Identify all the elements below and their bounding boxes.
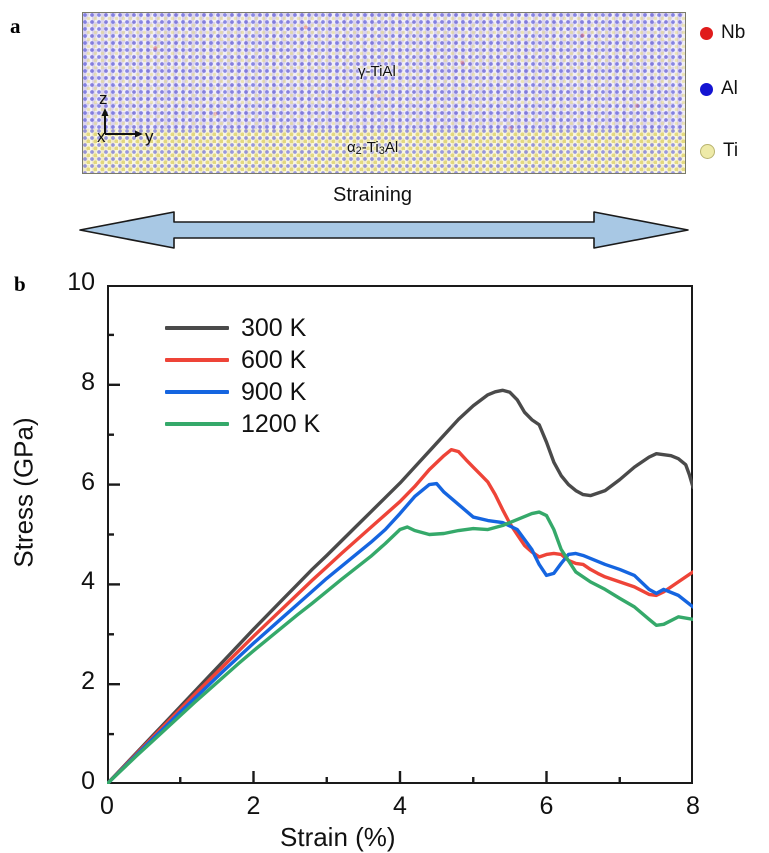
series-line-300-k	[107, 390, 693, 784]
legend-label: 600 K	[241, 346, 306, 375]
legend-line-swatch-icon	[165, 422, 229, 427]
x-tick-label-2: 2	[232, 792, 276, 821]
series-line-1200-k	[107, 512, 693, 784]
y-tick-label-2: 2	[51, 667, 95, 696]
legend-item-nb: Nb	[700, 22, 745, 44]
gamma-tial-label: γ-TiAl	[358, 63, 396, 80]
x-tick-label-4: 4	[378, 792, 422, 821]
alpha2-ti3al-label: α2-Ti3Al	[347, 139, 398, 157]
series-line-600-k	[107, 450, 693, 784]
y-tick-label-6: 6	[51, 468, 95, 497]
coordinate-axes-triad: z x y	[95, 88, 165, 156]
legend-item-300-k[interactable]: 300 K	[165, 312, 320, 344]
temperature-series-legend: 300 K600 K900 K1200 K	[165, 312, 320, 440]
y-tick-label-4: 4	[51, 567, 95, 596]
legend-item-1200-k[interactable]: 1200 K	[165, 408, 320, 440]
svg-text:z: z	[99, 89, 108, 108]
legend-line-swatch-icon	[165, 358, 229, 363]
al-color-swatch-icon	[700, 83, 713, 96]
legend-item-600-k[interactable]: 600 K	[165, 344, 320, 376]
x-tick-label-8: 8	[671, 792, 715, 821]
x-tick-label-0: 0	[85, 792, 129, 821]
legend-label: 1200 K	[241, 410, 320, 439]
legend-label-ti: Ti	[723, 140, 738, 162]
legend-label-al: Al	[721, 78, 738, 100]
alpha2-ti3al-label-pre: α	[347, 139, 356, 156]
legend-line-swatch-icon	[165, 326, 229, 331]
legend-item-900-k[interactable]: 900 K	[165, 376, 320, 408]
legend-label: 300 K	[241, 314, 306, 343]
svg-text:x: x	[97, 127, 106, 146]
alpha2-ti3al-label-post: Al	[385, 139, 398, 156]
legend-label-nb: Nb	[721, 22, 745, 44]
y-axis-title: Stress (GPa)	[9, 373, 40, 613]
legend-label: 900 K	[241, 378, 306, 407]
svg-text:y: y	[145, 127, 154, 146]
y-tick-label-8: 8	[51, 368, 95, 397]
legend-item-al: Al	[700, 78, 738, 100]
nb-color-swatch-icon	[700, 27, 713, 40]
stress-strain-chart: 0246810 02468 Stress (GPa) Strain (%) 30…	[0, 262, 769, 851]
ti-color-swatch-icon	[700, 144, 715, 159]
straining-double-arrow-icon	[78, 208, 690, 252]
legend-item-ti: Ti	[700, 140, 738, 162]
legend-line-swatch-icon	[165, 390, 229, 395]
panel-a-letter: a	[10, 14, 21, 39]
alpha2-ti3al-label-mid: -Ti	[362, 139, 379, 156]
x-tick-label-6: 6	[525, 792, 569, 821]
y-tick-label-10: 10	[51, 268, 95, 297]
x-axis-title: Strain (%)	[280, 822, 396, 853]
straining-label: Straining	[333, 184, 412, 207]
atom-species-legend: Nb Al Ti	[700, 12, 769, 172]
